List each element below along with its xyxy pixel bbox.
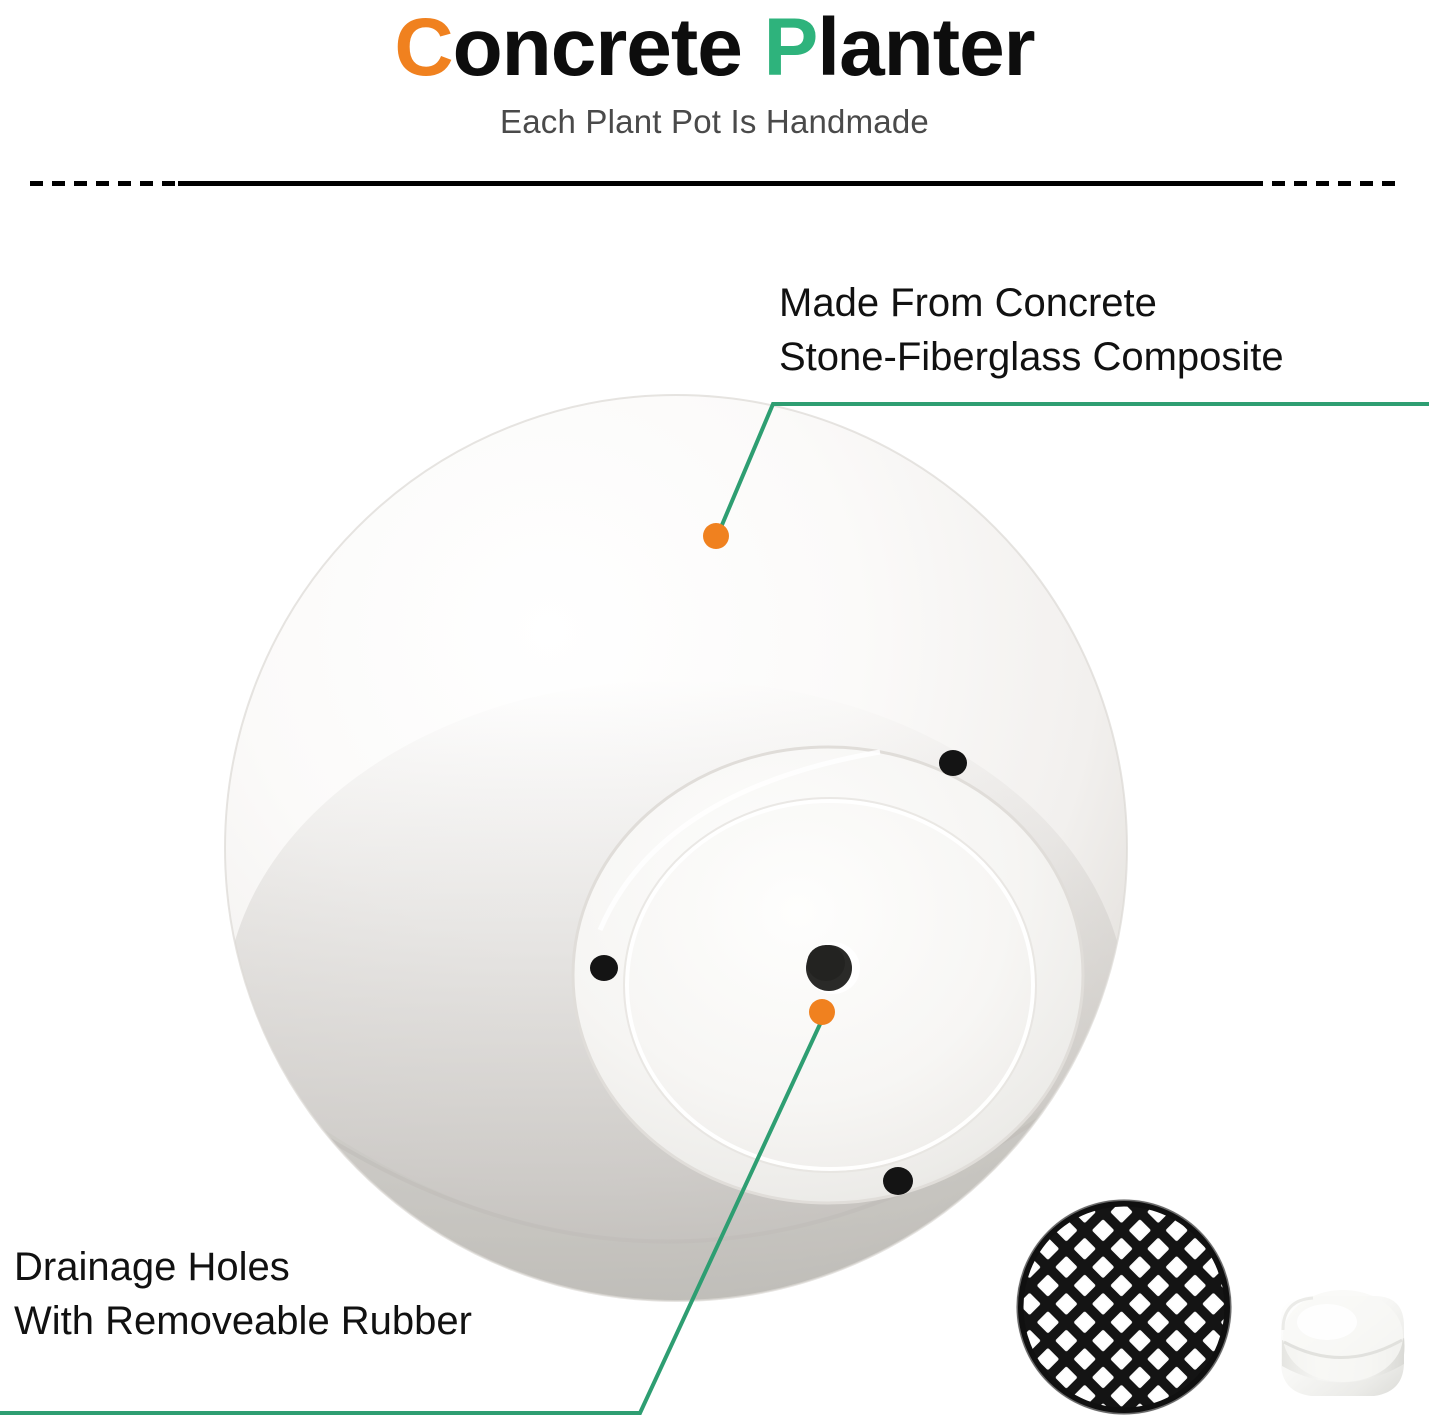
header-divider xyxy=(28,181,1406,186)
mesh-disc-base xyxy=(1020,1203,1228,1411)
center-hole-plug xyxy=(806,945,852,991)
drainage-hole-left xyxy=(590,955,618,981)
page-subtitle: Each Plant Pot Is Handmade xyxy=(0,102,1429,142)
mesh-drainage-screen xyxy=(1010,1193,1238,1416)
title-segment-oncrete: oncrete xyxy=(453,2,764,93)
planter-base-disc-group xyxy=(573,747,1083,1203)
callout-connectors xyxy=(0,0,1429,1416)
planter-body-group xyxy=(225,395,1127,1340)
header-block: Concrete Planter Each Plant Pot Is Handm… xyxy=(0,0,1429,142)
page-title: Concrete Planter xyxy=(0,0,1429,96)
planter-outer-body xyxy=(225,395,1127,1301)
callout-dot-top-right xyxy=(703,523,729,549)
connector-line-top-right xyxy=(719,404,1429,532)
planter-rim-edge-line xyxy=(232,1058,1122,1242)
connector-bottom-left xyxy=(0,999,835,1413)
rubber-plug-left-edge xyxy=(1283,1298,1313,1330)
rubber-plug-seam xyxy=(1284,1340,1402,1358)
planter-inner-disc xyxy=(627,801,1033,1169)
planter-inner-disc-outer-edge xyxy=(624,798,1036,1172)
rubber-plug-highlight xyxy=(1297,1304,1357,1340)
infographic-canvas: Concrete Planter Each Plant Pot Is Handm… xyxy=(0,0,1429,1416)
planter-inner-disc-group xyxy=(624,798,1036,1172)
callout-made-from-concrete: Made From Concrete Stone-Fiberglass Comp… xyxy=(779,276,1284,384)
callout-dot-bottom-left xyxy=(809,999,835,1025)
removeable-rubber-plug xyxy=(1281,1290,1405,1396)
title-accent-p: P xyxy=(764,2,818,93)
callout-top-right-line1: Made From Concrete xyxy=(779,276,1284,330)
center-hole-rim xyxy=(806,942,860,994)
connector-top-right xyxy=(703,404,1429,549)
planter-illustration xyxy=(0,0,1429,1416)
mesh-lattice-group xyxy=(1010,1193,1238,1416)
center-hole-plug-inner xyxy=(807,945,845,981)
mesh-disc-outer-edge xyxy=(1017,1200,1231,1414)
callout-drainage-holes: Drainage Holes With Removeable Rubber xyxy=(14,1240,472,1348)
rubber-plug-top-face xyxy=(1283,1290,1403,1382)
planter-inner-disc-ring xyxy=(627,801,1033,1169)
rubber-plug-body xyxy=(1281,1296,1404,1396)
connector-line-bottom-left xyxy=(0,1022,821,1413)
rubber-plug-cap xyxy=(1281,1296,1405,1396)
drainage-holes-group xyxy=(590,750,967,1195)
callout-top-right-line2: Stone-Fiberglass Composite xyxy=(779,330,1284,384)
planter-base-disc xyxy=(573,747,1083,1203)
callout-bottom-left-line2: With Removeable Rubber xyxy=(14,1294,472,1348)
mesh-disc-rim xyxy=(1020,1203,1228,1411)
title-segment-lanter: lanter xyxy=(817,2,1034,93)
planter-outer-edge xyxy=(225,395,1127,1301)
drainage-hole-bottom xyxy=(883,1167,913,1195)
rubber-plug-skirt xyxy=(1282,1338,1404,1383)
title-accent-c: C xyxy=(394,2,452,93)
mesh-lattice-pattern xyxy=(1010,1193,1238,1416)
planter-base-disc-edge xyxy=(573,747,1083,1203)
callout-bottom-left-line1: Drainage Holes xyxy=(14,1240,472,1294)
center-drainage-hole-with-plug xyxy=(806,942,860,994)
base-disc-highlight xyxy=(600,752,880,930)
drainage-hole-top-right xyxy=(939,750,967,776)
